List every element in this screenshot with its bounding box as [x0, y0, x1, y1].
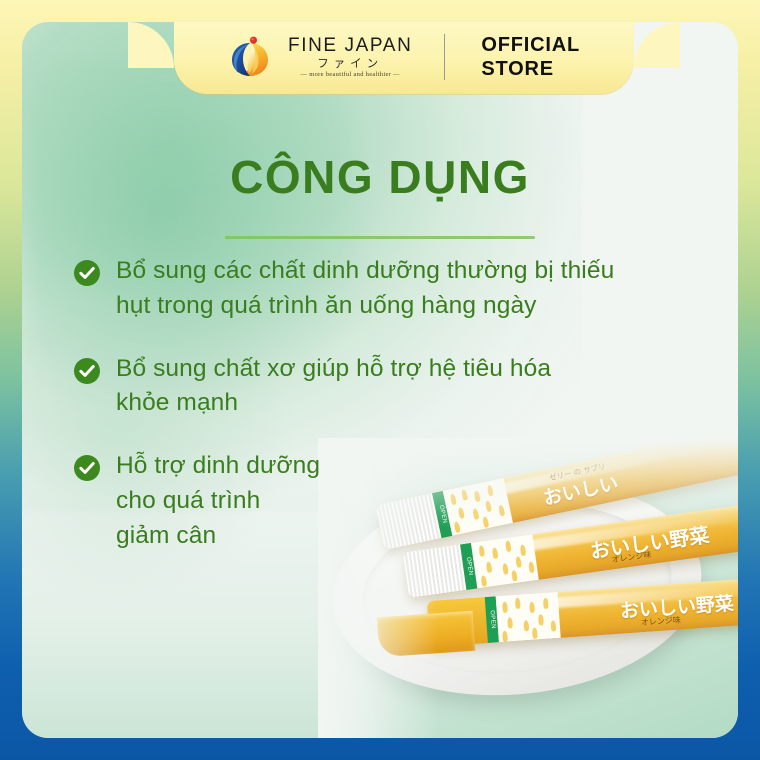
store-header-banner: FINE JAPAN ファイン — more beautiful and hea…	[174, 22, 634, 94]
brand-tagline: — more beautiful and healthier —	[301, 71, 400, 78]
header-divider	[444, 34, 445, 80]
stick-3-subtitle: オレンジ味	[640, 614, 681, 628]
benefits-list: Bổ sung các chất dinh dưỡng thường bị th…	[74, 254, 694, 581]
check-circle-icon	[74, 260, 100, 286]
content-panel: OPEN ゼリー の サプリ おいしい OPEN	[22, 22, 738, 738]
wheat-pattern-band	[496, 592, 561, 642]
title-divider	[225, 236, 535, 239]
poster-canvas: OPEN ゼリー の サプリ おいしい OPEN	[0, 0, 760, 760]
check-circle-icon	[74, 455, 100, 481]
list-item: Bổ sung chất xơ giúp hỗ trợ hệ tiêu hóa …	[74, 352, 694, 422]
list-item: Hỗ trợ dinh dưỡng cho quá trình giảm cân	[74, 449, 694, 553]
list-item-label: Hỗ trợ dinh dưỡng cho quá trình giảm cân	[116, 449, 320, 553]
official-store-line2: STORE	[481, 58, 554, 80]
brand-kana: ファイン	[317, 57, 383, 70]
list-item-label: Bổ sung các chất dinh dưỡng thường bị th…	[116, 254, 614, 324]
fine-japan-flame-logo-icon	[228, 34, 272, 80]
official-store-line1: OFFICIAL	[481, 34, 580, 56]
fine-japan-wordmark: FINE JAPAN ファイン — more beautiful and hea…	[288, 36, 412, 79]
banner-flare-right	[634, 22, 680, 68]
brand-name: FINE JAPAN	[288, 36, 412, 56]
official-store-label: OFFICIAL STORE	[481, 33, 580, 82]
list-item: Bổ sung các chất dinh dưỡng thường bị th…	[74, 254, 694, 324]
page-title: CÔNG DỤNG	[22, 150, 738, 204]
open-strip-label: OPEN	[488, 610, 495, 629]
list-item-label: Bổ sung chất xơ giúp hỗ trợ hệ tiêu hóa …	[116, 352, 551, 422]
check-circle-icon	[74, 358, 100, 384]
